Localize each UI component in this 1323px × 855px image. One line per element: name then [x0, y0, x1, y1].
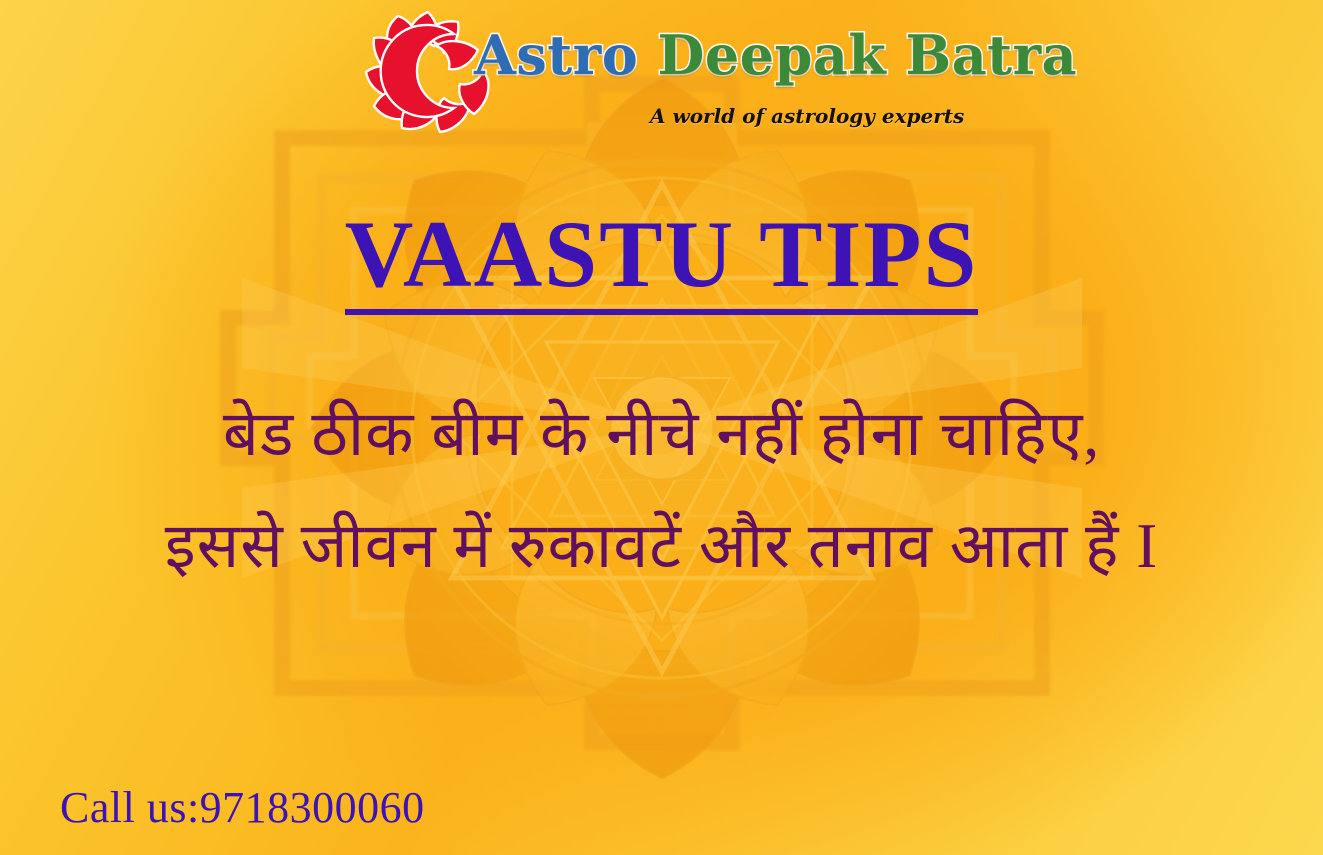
tip-body: बेड ठीक बीम के नीचे नहीं होना चाहिए, इसस… [0, 378, 1323, 602]
brand-word-astro: Astro [474, 23, 638, 87]
brand-tagline: A world of astrology experts [650, 104, 964, 128]
contact-phone[interactable]: Call us:9718300060 [60, 782, 425, 833]
tip-line-2: इससे जीवन में रुकावटें और तनाव आता हैं I [0, 490, 1323, 602]
page-title-text: VAASTU TIPS [345, 206, 979, 315]
brand-logo[interactable]: Astro Deepak Batra A world of astrology … [362, 2, 922, 142]
page-title: VAASTU TIPS [0, 206, 1323, 315]
sun-burst-icon [362, 6, 492, 136]
tip-line-1: बेड ठीक बीम के नीचे नहीं होना चाहिए, [0, 378, 1323, 490]
brand-name: Astro Deepak Batra [474, 28, 1077, 82]
brand-word-batra: Batra [906, 23, 1078, 87]
brand-word-deepak: Deepak [658, 23, 887, 87]
poster-canvas: Astro Deepak Batra A world of astrology … [0, 0, 1323, 855]
